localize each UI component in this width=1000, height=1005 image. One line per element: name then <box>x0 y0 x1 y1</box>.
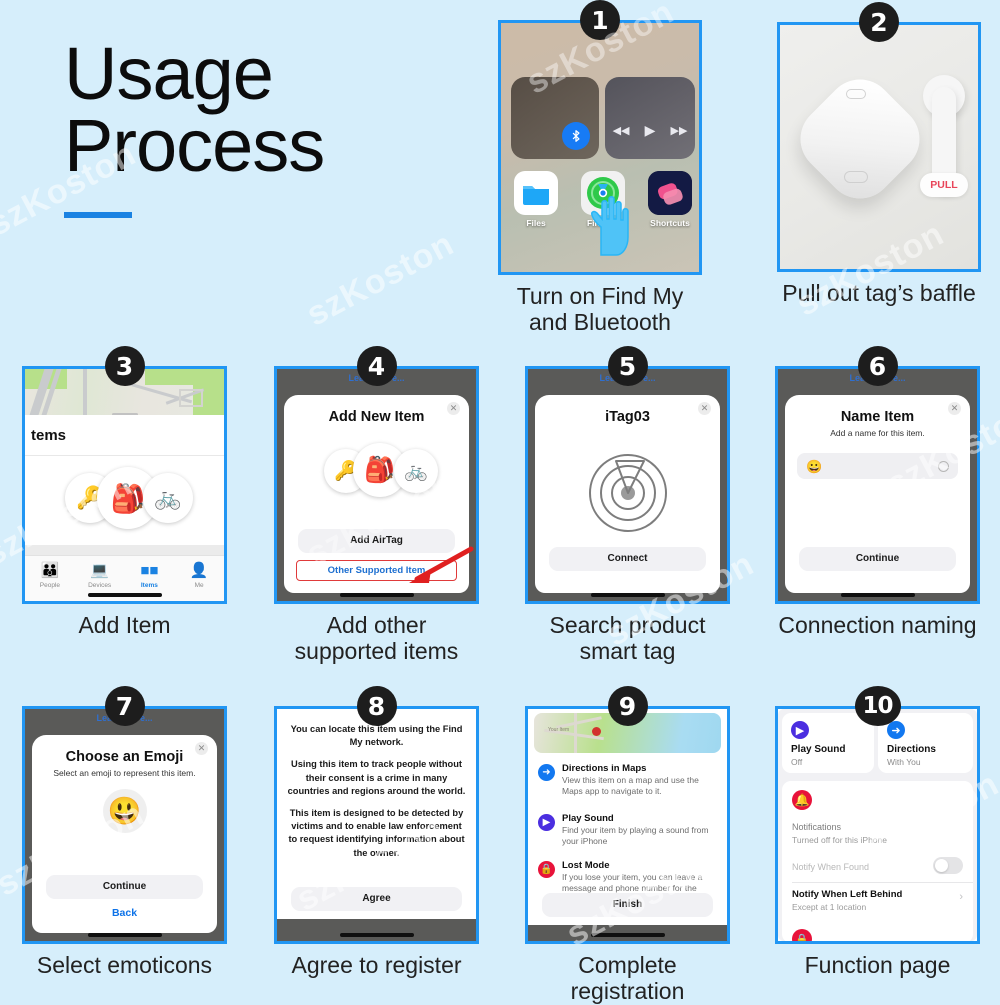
watermark: szKoston <box>300 224 460 334</box>
items-grid-icon: ■■ <box>125 562 175 580</box>
step-caption: Turn on Find My and Bluetooth <box>498 284 702 336</box>
sheet-subtitle: Select an emoji to represent this item. <box>32 768 217 778</box>
dimmed-backdrop <box>277 919 476 941</box>
step-2-image-frame: PULL <box>777 22 981 272</box>
step-caption: Complete registration <box>525 953 730 1005</box>
notify-when-found-label: Notify When Found <box>792 862 869 872</box>
agree-button[interactable]: Agree <box>291 887 462 911</box>
feature-heading: Lost Mode <box>562 860 719 871</box>
notify-left-behind-sub: Except at 1 location <box>792 902 866 912</box>
pull-label: PULL <box>920 173 968 197</box>
sheet-subtitle: Add a name for this item. <box>785 428 970 438</box>
page-title: Usage Process <box>64 38 484 218</box>
chevron-right-icon[interactable]: › <box>959 891 963 903</box>
sheet-title: Add New Item <box>284 409 469 425</box>
lost-mode-lock-icon: 🔒 <box>792 929 812 941</box>
item-detail-screen: ▶ Play Sound Off ➜ Directions With You 🔔… <box>778 709 977 941</box>
step-number-badge: 3 <box>105 346 145 386</box>
step-2-panel: PULL 2 Pull out tag’s baffle <box>777 22 981 307</box>
tag-slot-top <box>846 89 866 99</box>
legal-paragraph: This item is designed to be detected by … <box>287 807 466 860</box>
step-7-screenshot-frame: Learn More... ✕ Choose an Emoji Select a… <box>22 706 227 944</box>
legal-paragraph: You can locate this item using the Find … <box>287 723 466 749</box>
home-indicator <box>841 593 915 597</box>
step-10-screenshot-frame: ▶ Play Sound Off ➜ Directions With You 🔔… <box>775 706 980 944</box>
tap-hand-icon <box>583 193 635 259</box>
title-line-1: Usage <box>64 38 484 110</box>
home-indicator <box>340 593 414 597</box>
name-input[interactable]: 😀 <box>797 453 958 479</box>
play-sound-icon: ▶ <box>538 814 555 831</box>
step-number-badge: 2 <box>859 2 899 42</box>
tab-me[interactable]: 👤 Me <box>174 556 224 601</box>
notifications-heading: Notifications <box>792 822 841 832</box>
close-icon[interactable]: ✕ <box>698 402 711 415</box>
emoji-prefix-icon[interactable]: 😀 <box>806 459 822 475</box>
item-bubbles: 🔑 🎒 🚲 <box>284 443 469 505</box>
tag-button-slot <box>844 171 868 183</box>
notify-when-found-toggle[interactable] <box>933 857 963 874</box>
step-number-badge: 10 <box>855 686 901 726</box>
close-icon[interactable]: ✕ <box>948 402 961 415</box>
rewind-icon[interactable]: ◀◀ <box>613 124 630 137</box>
connect-button[interactable]: Connect <box>549 547 706 571</box>
card-heading: Play Sound <box>791 744 845 755</box>
step-number-badge: 7 <box>105 686 145 726</box>
step-number-badge: 1 <box>580 0 620 40</box>
notifications-card: 🔔 Notifications Turned off for this iPho… <box>782 781 973 941</box>
card-heading: Directions <box>887 744 936 755</box>
feature-body: View this item on a map and use the Maps… <box>562 775 719 797</box>
card-sub: With You <box>887 757 921 767</box>
step-4-screenshot-frame: Learn More... ✕ Add New Item 🔑 🎒 🚲 Add A… <box>274 366 479 604</box>
legal-paragraph: Using this item to track people without … <box>287 758 466 798</box>
item-bubble-bike[interactable]: 🚲 <box>394 449 438 493</box>
step-caption: Agree to register <box>274 953 479 979</box>
close-icon[interactable]: ✕ <box>447 402 460 415</box>
continue-button[interactable]: Continue <box>46 875 203 899</box>
name-item-sheet: ✕ Name Item Add a name for this item. 😀 … <box>785 395 970 593</box>
step-7-panel: Learn More... ✕ Choose an Emoji Select a… <box>22 706 227 979</box>
step-10-panel: ▶ Play Sound Off ➜ Directions With You 🔔… <box>775 706 980 979</box>
items-sheet: tems 🔑 🎒 🚲 Add Item 👪 People 💻 Devices <box>25 415 224 601</box>
close-icon[interactable]: ✕ <box>195 742 208 755</box>
step-6-screenshot-frame: Learn More... ✕ Name Item Add a name for… <box>775 366 980 604</box>
finish-button[interactable]: Finish <box>542 893 713 917</box>
step-9-screenshot-frame: Your Item ➜ Directions in Maps View this… <box>525 706 730 944</box>
feature-body: Find your item by playing a sound from y… <box>562 825 719 847</box>
card-sub: Off <box>791 757 802 767</box>
sheet-title: Name Item <box>785 409 970 425</box>
items-header: tems <box>31 427 66 444</box>
connect-sheet: ✕ iTag03 Connect <box>535 395 720 593</box>
home-indicator <box>340 933 414 937</box>
feature-heading: Play Sound <box>562 813 719 824</box>
radar-icon <box>586 451 670 535</box>
bluetooth-tile[interactable] <box>511 77 599 159</box>
clear-icon[interactable] <box>938 461 949 472</box>
step-caption: Add Item <box>22 613 227 639</box>
toggle-knob <box>935 859 948 872</box>
step-9-panel: Your Item ➜ Directions in Maps View this… <box>525 706 730 1005</box>
step-caption: Search product smart tag <box>525 613 730 665</box>
step-1-panel: ◀◀ ▶ ▶▶ Files <box>498 20 702 336</box>
step-number-badge: 5 <box>608 346 648 386</box>
app-label: Shortcuts <box>647 218 693 228</box>
directions-arrow-icon: ➜ <box>538 764 555 781</box>
feature-play-sound: ▶ Play Sound Find your item by playing a… <box>538 813 719 847</box>
bluetooth-icon[interactable] <box>562 122 590 150</box>
step-caption: Function page <box>775 953 980 979</box>
fast-forward-icon[interactable]: ▶▶ <box>671 124 688 137</box>
step-number-badge: 4 <box>357 346 397 386</box>
step-5-screenshot-frame: Learn More... ✕ iTag03 Connect <box>525 366 730 604</box>
app-tile-shortcuts[interactable]: Shortcuts <box>647 171 693 228</box>
continue-button[interactable]: Continue <box>799 547 956 571</box>
notify-left-behind-heading[interactable]: Notify When Left Behind <box>792 889 902 900</box>
tab-people[interactable]: 👪 People <box>25 556 75 601</box>
step-6-panel: Learn More... ✕ Name Item Add a name for… <box>775 366 980 639</box>
app-label: Files <box>513 218 559 228</box>
card-play-sound[interactable]: ▶ Play Sound Off <box>782 713 874 773</box>
back-link[interactable]: Back <box>32 907 217 919</box>
map-label: Your Item <box>548 727 569 733</box>
card-directions[interactable]: ➜ Directions With You <box>878 713 973 773</box>
item-bubble-bike[interactable]: 🚲 <box>143 473 193 523</box>
lost-mode-lock-icon: 🔒 <box>538 861 555 878</box>
play-sound-icon: ▶ <box>791 721 809 739</box>
legal-sheet: You can locate this item using the Find … <box>277 709 476 941</box>
person-icon: 👤 <box>174 562 224 580</box>
app-tile-files[interactable]: Files <box>513 171 559 228</box>
play-icon[interactable]: ▶ <box>645 122 656 139</box>
selected-emoji[interactable]: 😃 <box>103 789 147 833</box>
feature-heading: Directions in Maps <box>562 763 719 774</box>
notifications-sub: Turned off for this iPhone <box>792 835 887 845</box>
feature-directions: ➜ Directions in Maps View this item on a… <box>538 763 719 797</box>
divider <box>25 455 224 456</box>
step-number-badge: 6 <box>858 346 898 386</box>
media-playback-tile[interactable]: ◀◀ ▶ ▶▶ <box>605 77 695 159</box>
step-3-screenshot-frame: tems 🔑 🎒 🚲 Add Item 👪 People 💻 Devices <box>22 366 227 604</box>
devices-icon: 💻 <box>75 562 125 580</box>
directions-arrow-icon: ➜ <box>887 721 905 739</box>
legal-text: You can locate this item using the Find … <box>287 723 466 869</box>
step-4-panel: Learn More... ✕ Add New Item 🔑 🎒 🚲 Add A… <box>274 366 479 665</box>
home-indicator <box>591 593 665 597</box>
step-5-panel: Learn More... ✕ iTag03 Connect 5 Search … <box>525 366 730 665</box>
step-1-screenshot-frame: ◀◀ ▶ ▶▶ Files <box>498 20 702 275</box>
step-caption: Select emoticons <box>22 953 227 979</box>
step-caption: Pull out tag’s baffle <box>777 281 981 307</box>
item-bubbles: 🔑 🎒 🚲 <box>25 467 224 533</box>
step-number-badge: 9 <box>608 686 648 726</box>
files-folder-icon[interactable] <box>514 171 558 215</box>
home-indicator <box>591 933 665 937</box>
step-caption: Connection naming <box>775 613 980 639</box>
home-indicator <box>88 593 162 597</box>
media-controls: ◀◀ ▶ ▶▶ <box>605 122 695 139</box>
divider <box>792 882 973 883</box>
choose-emoji-sheet: ✕ Choose an Emoji Select an emoji to rep… <box>32 735 217 933</box>
people-icon: 👪 <box>25 562 75 580</box>
step-8-panel: You can locate this item using the Find … <box>274 706 479 979</box>
notification-bell-icon: 🔔 <box>792 790 812 810</box>
step-3-panel: tems 🔑 🎒 🚲 Add Item 👪 People 💻 Devices <box>22 366 227 639</box>
title-line-2: Process <box>64 110 484 182</box>
step-caption: Add other supported items <box>274 613 479 665</box>
notify-when-found-row[interactable]: Notify When Found <box>792 857 963 877</box>
map-pin <box>592 727 601 736</box>
title-underline-rule <box>64 212 132 218</box>
shortcuts-icon[interactable] <box>648 171 692 215</box>
step-8-screenshot-frame: You can locate this item using the Find … <box>274 706 479 944</box>
red-arrow-icon <box>391 543 475 591</box>
sheet-title: iTag03 <box>535 409 720 425</box>
sheet-title: Choose an Emoji <box>32 749 217 765</box>
home-indicator <box>88 933 162 937</box>
step-number-badge: 8 <box>357 686 397 726</box>
